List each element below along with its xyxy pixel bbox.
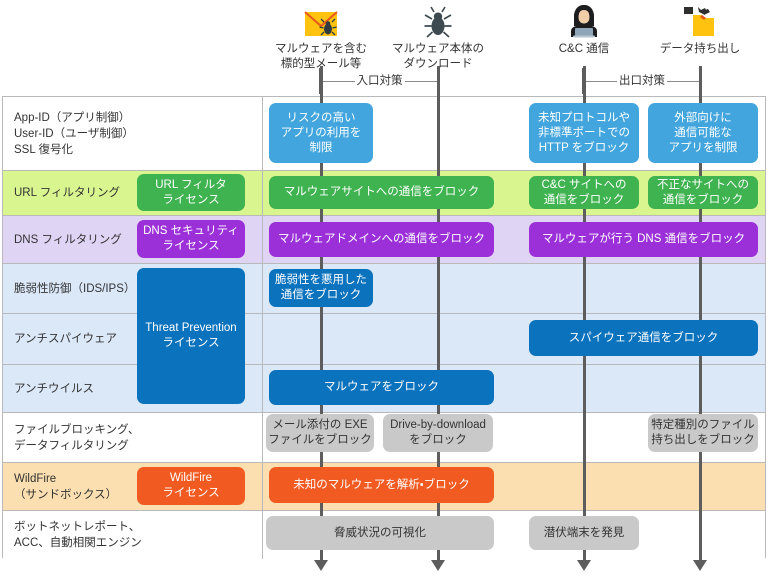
data-exfiltration-icon (620, 2, 768, 38)
threat-column-malware-bug: マルウェア本体の ダウンロード (358, 2, 518, 72)
wildfire-license: WildFire ライセンス (137, 467, 245, 505)
capability-row-label-text: App-ID（アプリ制御） User-ID（ユーザ制御） SSL 復号化 (3, 110, 134, 158)
block-email-exe-attachment: メール添付の EXE ファイルをブロック (266, 414, 374, 452)
capability-row-label: App-ID（アプリ制御） User-ID（ユーザ制御） SSL 復号化 (3, 97, 263, 170)
capability-row-label-text: ファイルブロッキング、 データフィルタリング (3, 422, 139, 454)
dns-security-license: DNS セキュリティ ライセンス (137, 220, 245, 258)
block-drive-by-download: Drive-by-download をブロック (383, 414, 493, 452)
bracket-exit: 出口対策 (582, 68, 702, 94)
block-exploit-comm: 脆弱性を悪用した 通信をブロック (269, 269, 373, 307)
capability-row-label-text: DNS フィルタリング (3, 232, 122, 248)
analyze-block-unknown-malware: 未知のマルウェアを解析・ブロック (269, 467, 494, 503)
block-spyware-comm: スパイウェア通信をブロック (529, 320, 758, 356)
threat-prevention-license: Threat Prevention ライセンス (137, 268, 245, 404)
bracket-entry: 入口対策 (319, 68, 440, 94)
block-unknown-protocol-http: 未知プロトコルや 非標準ポートでの HTTP をブロック (529, 103, 639, 163)
bracket-label: 出口対策 (582, 72, 702, 88)
flow-arrowhead (314, 560, 328, 571)
capability-row-label-text: アンチスパイウェア (3, 331, 117, 347)
restrict-risky-apps: リスクの高い アプリの利用を 制限 (269, 103, 373, 163)
threat-column-label: データ持ち出し (620, 42, 768, 57)
capability-row-label-text: URL フィルタリング (3, 185, 120, 201)
flow-arrowhead (693, 560, 707, 571)
capability-row-label: ファイルブロッキング、 データフィルタリング (3, 413, 263, 462)
capability-row-label-text: WildFire （サンドボックス） (3, 471, 117, 503)
block-malware-site-comm: マルウェアサイトへの通信をブロック (269, 176, 494, 209)
block-malware: マルウェアをブロック (269, 370, 494, 405)
capability-row-label-text: 脆弱性防御（IDS/IPS） (3, 281, 135, 297)
visualize-threat-status: 脅威状況の可視化 (266, 516, 494, 550)
block-malware-dns-comm: マルウェアが行う DNS 通信をブロック (529, 222, 758, 257)
bracket-label: 入口対策 (319, 72, 440, 88)
url-filter-license: URL フィルタ ライセンス (137, 174, 245, 211)
detect-dormant-hosts: 潜伏端末を発見 (529, 516, 639, 550)
threat-defense-matrix-diagram: マルウェアを含む 標的型メール等マルウェア本体の ダウンロードC&C 通信データ… (0, 0, 768, 580)
block-specific-file-exfil: 特定種別のファイル 持ち出しをブロック (648, 414, 758, 452)
capability-row-label-text: ボットネットレポート、 ACC、自動相関エンジン (3, 519, 142, 551)
flow-arrowhead (577, 560, 591, 571)
capability-row-label: ボットネットレポート、 ACC、自動相関エンジン (3, 511, 263, 559)
capability-row-label-text: アンチウイルス (3, 381, 94, 397)
restrict-outbound-apps: 外部向けに 通信可能な アプリを制限 (648, 103, 758, 163)
capability-row: 脆弱性防御（IDS/IPS） (3, 264, 765, 314)
malware-bug-icon (358, 2, 518, 38)
block-malicious-site-comm: 不正なサイトへの 通信をブロック (648, 176, 758, 209)
block-cnc-site-comm: C&C サイトへの 通信をブロック (529, 176, 639, 209)
threat-column-data-exfiltration: データ持ち出し (620, 2, 768, 57)
block-malware-domain-comm: マルウェアドメインへの通信をブロック (269, 222, 494, 257)
flow-arrowhead (431, 560, 445, 571)
